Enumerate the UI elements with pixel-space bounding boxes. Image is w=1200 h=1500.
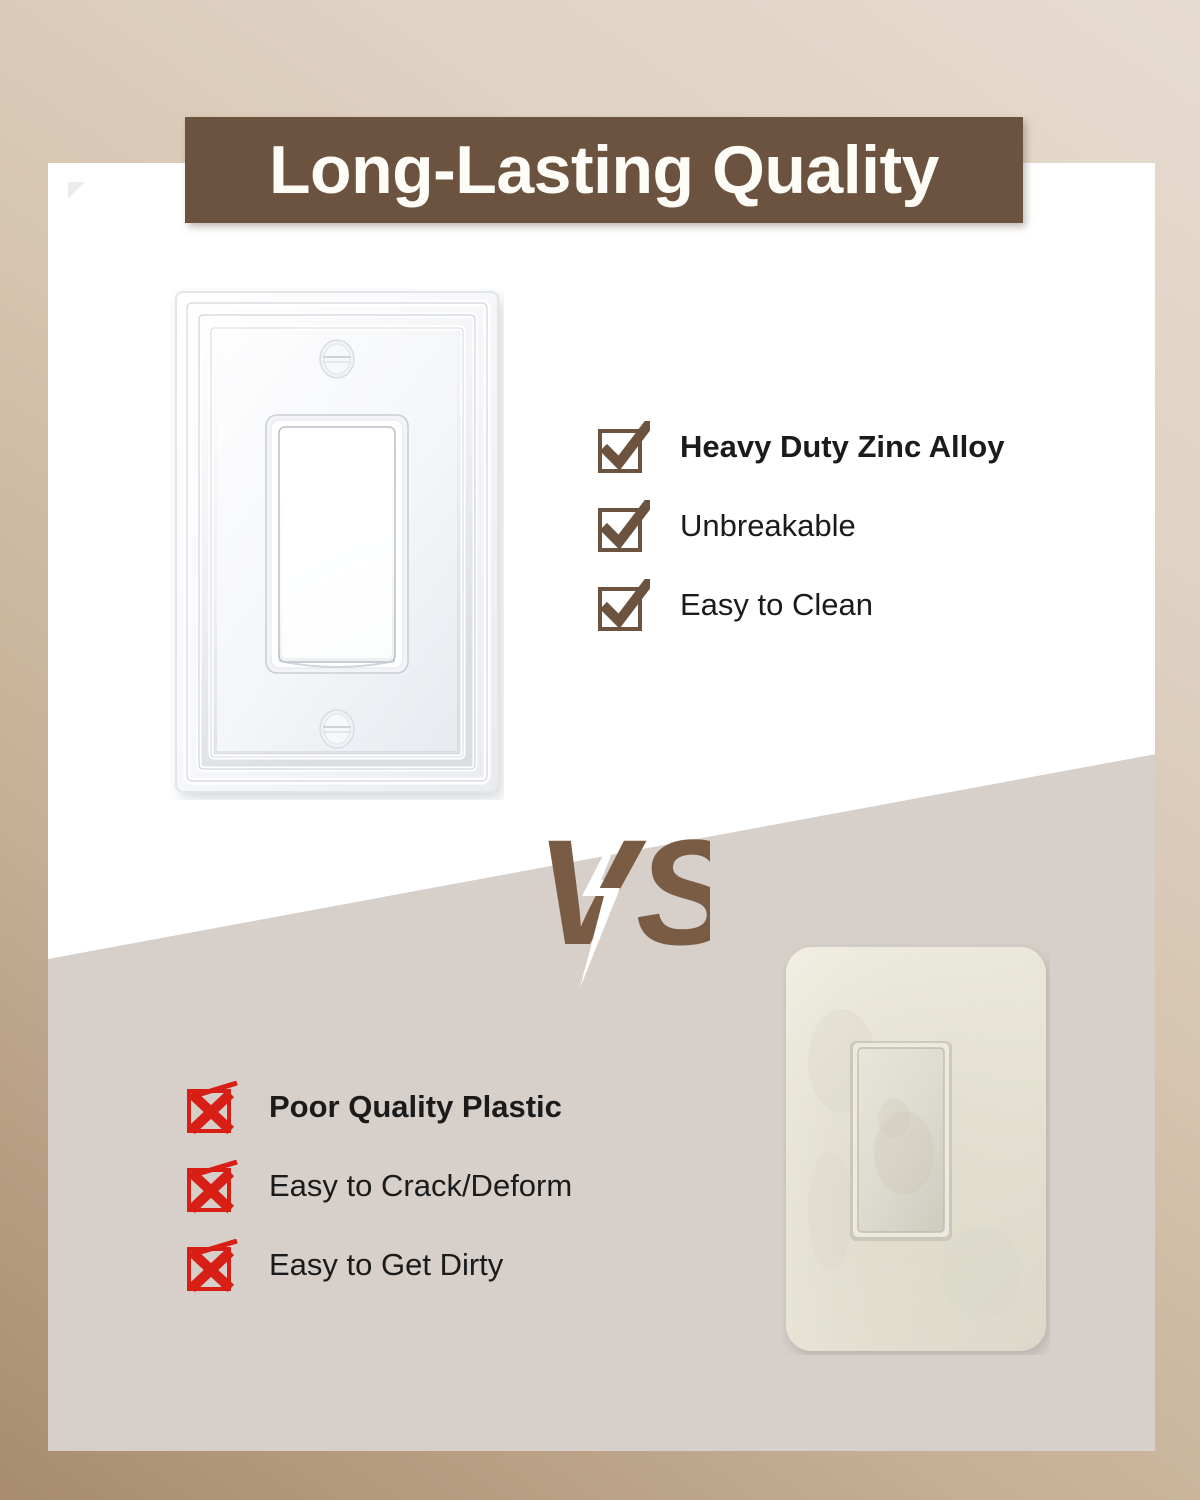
product-comparison-infographic: Heavy Duty Zinc Alloy Unbreakable xyxy=(0,0,1200,1500)
list-item-label: Heavy Duty Zinc Alloy xyxy=(680,431,1004,464)
list-item: Poor Quality Plastic xyxy=(185,1068,705,1147)
list-item: Heavy Duty Zinc Alloy xyxy=(596,408,1116,487)
versus-label: VS xyxy=(536,808,710,976)
list-item-label: Easy to Get Dirty xyxy=(269,1249,503,1282)
list-item-label: Unbreakable xyxy=(680,510,856,543)
checkbox-cross-icon xyxy=(185,1081,239,1135)
screw-top xyxy=(320,340,354,378)
cons-feature-list: Poor Quality Plastic Easy to Crack/Defor… xyxy=(185,1068,705,1305)
list-item-label: Easy to Crack/Deform xyxy=(269,1170,572,1203)
checkbox-check-icon xyxy=(596,421,650,475)
folded-corner-decoration xyxy=(68,182,85,199)
checkbox-cross-icon xyxy=(185,1239,239,1293)
list-item: Easy to Get Dirty xyxy=(185,1226,705,1305)
checkbox-check-icon xyxy=(596,500,650,554)
page-title: Long-Lasting Quality xyxy=(269,136,939,204)
good-product-image xyxy=(170,288,504,800)
list-item: Easy to Clean xyxy=(596,566,1116,645)
checkbox-cross-icon xyxy=(185,1160,239,1214)
checkbox-check-icon xyxy=(596,579,650,633)
list-item: Unbreakable xyxy=(596,487,1116,566)
title-banner: Long-Lasting Quality xyxy=(185,117,1023,223)
list-item-label: Poor Quality Plastic xyxy=(269,1091,562,1124)
pros-feature-list: Heavy Duty Zinc Alloy Unbreakable xyxy=(596,408,1116,645)
content-card: Heavy Duty Zinc Alloy Unbreakable xyxy=(48,163,1155,1451)
versus-badge: VS xyxy=(520,788,710,988)
list-item-label: Easy to Clean xyxy=(680,589,873,622)
screw-bottom xyxy=(320,710,354,748)
list-item: Easy to Crack/Deform xyxy=(185,1147,705,1226)
rocker-switch xyxy=(266,415,408,673)
bad-product-image xyxy=(782,943,1050,1355)
